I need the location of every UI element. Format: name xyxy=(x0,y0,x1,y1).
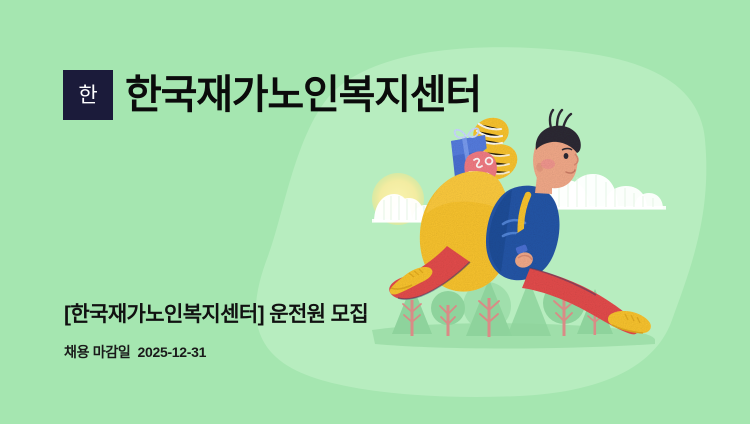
header-row: 한 한국재가노인복지센터 xyxy=(63,70,481,120)
job-posting-banner: 한 한국재가노인복지센터 [한국재가노인복지센터] 운전원 모집 채용 마감일2… xyxy=(0,0,750,424)
deadline-label: 채용 마감일 xyxy=(64,344,131,360)
deadline-date: 2025-12-31 xyxy=(138,344,207,360)
cheek-blush xyxy=(541,159,555,169)
eye xyxy=(564,153,569,159)
application-deadline: 채용 마감일2025-12-31 xyxy=(64,342,368,362)
caption-block: [한국재가노인복지센터] 운전원 모집 채용 마감일2025-12-31 xyxy=(64,302,368,362)
organization-title: 한국재가노인복지센터 xyxy=(125,75,481,115)
job-posting-title: [한국재가노인복지센터] 운전원 모집 xyxy=(64,302,368,328)
logo-badge: 한 xyxy=(63,70,113,120)
logo-badge-label: 한 xyxy=(78,85,97,106)
